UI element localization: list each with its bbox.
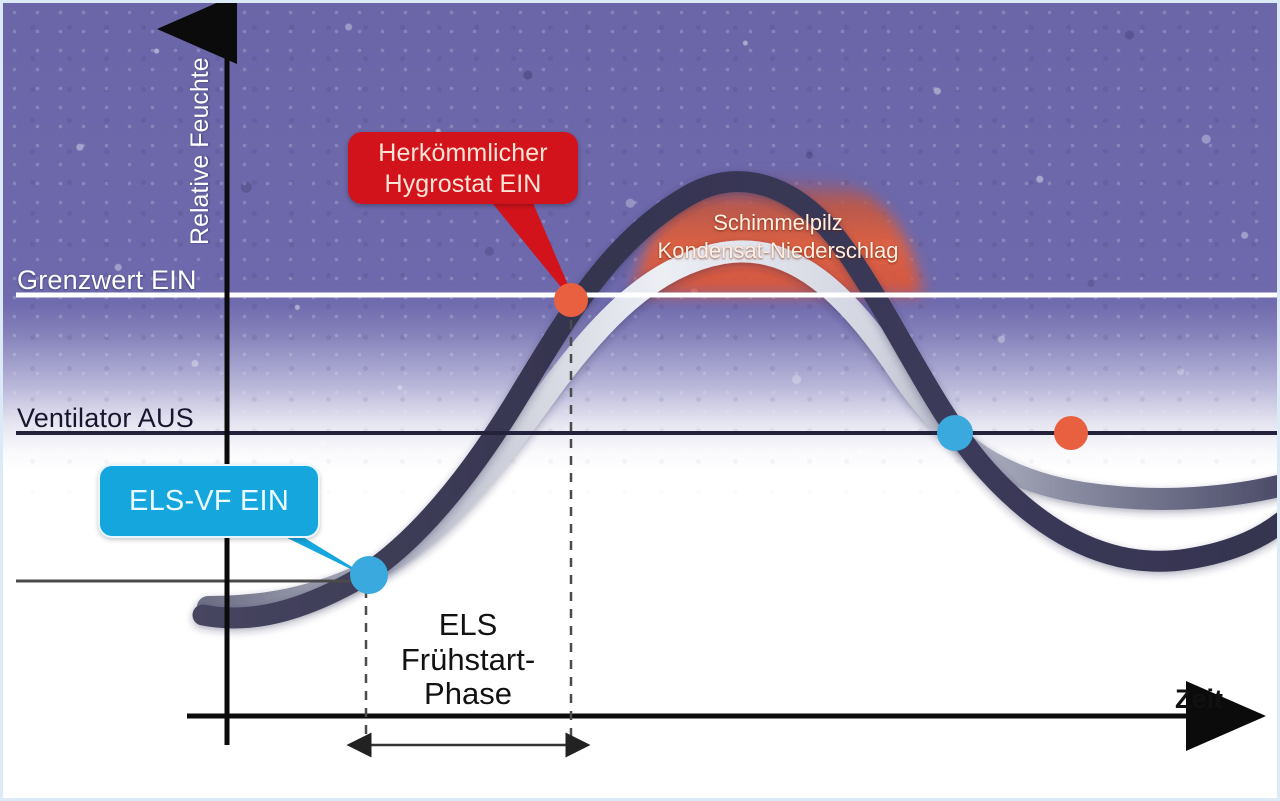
- phase-line2: Frühstart-: [401, 642, 535, 677]
- marker-hygrostat-on-2[interactable]: [1054, 416, 1088, 450]
- diagram-canvas: Grenzwert EIN Ventilator AUS Relative Fe…: [0, 0, 1280, 801]
- phase-line3: Phase: [424, 676, 512, 711]
- callout-hygrostat-text: Herkömmlicher Hygrostat EIN: [348, 132, 578, 199]
- x-axis-label: Zeit: [1175, 684, 1223, 715]
- callout-els[interactable]: ELS-VF EIN: [98, 464, 320, 538]
- mold-zone-line2: Kondensat-Niederschlag: [658, 238, 899, 263]
- phase-annotation-label: ELS Frühstart- Phase: [388, 608, 548, 712]
- marker-els-on-2[interactable]: [937, 415, 973, 451]
- callout-hygrostat-line2: Hygrostat EIN: [385, 170, 542, 198]
- mold-zone-line1: Schimmelpilz: [713, 210, 843, 235]
- threshold-label-ventilator: Ventilator AUS: [17, 403, 194, 434]
- threshold-label-grenzwert: Grenzwert EIN: [17, 265, 197, 296]
- phase-line1: ELS: [439, 607, 498, 642]
- mold-zone-label: Schimmelpilz Kondensat-Niederschlag: [633, 209, 923, 265]
- callout-els-line1: ELS-VF EIN: [100, 466, 318, 536]
- callout-hygrostat[interactable]: Herkömmlicher Hygrostat EIN: [348, 132, 578, 204]
- marker-hygrostat-on-1[interactable]: [554, 283, 588, 317]
- marker-els-on-1[interactable]: [350, 556, 388, 594]
- callout-hygrostat-line1: Herkömmlicher: [378, 139, 547, 167]
- y-axis-label: Relative Feuchte: [186, 57, 215, 245]
